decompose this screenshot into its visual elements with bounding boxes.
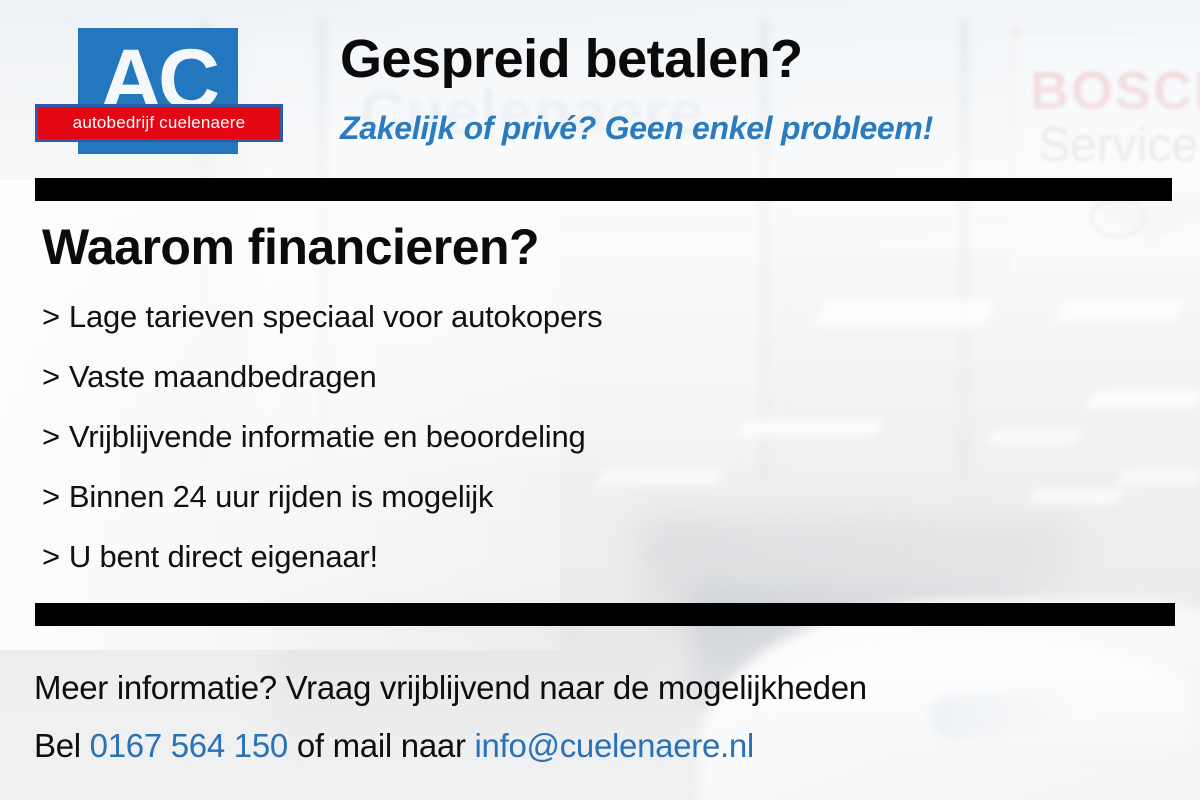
divider-top [35,178,1172,201]
footer-mail-label: of mail naar [288,727,475,764]
list-item: >Lage tarieven speciaal voor autokopers [42,295,942,355]
chevron-right-icon: > [42,479,60,514]
footer-info-line: Meer informatie? Vraag vrijblijvend naar… [34,664,1174,722]
list-item: >Vaste maandbedragen [42,355,942,415]
logo-tagline: autobedrijf cuelenaere [73,113,246,133]
list-item-label: Vrijblijvende informatie en beoordeling [69,419,586,454]
headline: Gespreid betalen? [340,28,803,90]
chevron-right-icon: > [42,299,60,334]
chevron-right-icon: > [42,539,60,574]
subheadline: Zakelijk of privé? Geen enkel probleem! [340,110,933,147]
divider-bottom [35,603,1175,626]
footer-contact-line: Bel 0167 564 150 of mail naar info@cuele… [34,722,1174,780]
list-item: >Binnen 24 uur rijden is mogelijk [42,475,942,535]
poster-content: AC autobedrijf cuelenaere Gespreid betal… [0,0,1200,800]
benefits-list: >Lage tarieven speciaal voor autokopers … [42,295,942,595]
list-item-label: Vaste maandbedragen [69,359,377,394]
list-item-label: U bent direct eigenaar! [69,539,378,574]
company-logo[interactable]: AC autobedrijf cuelenaere [35,28,285,156]
phone-number[interactable]: 0167 564 150 [90,727,288,764]
list-item: >U bent direct eigenaar! [42,535,942,595]
section-title: Waarom financieren? [42,218,539,276]
list-item-label: Lage tarieven speciaal voor autokopers [69,299,603,334]
chevron-right-icon: > [42,419,60,454]
list-item-label: Binnen 24 uur rijden is mogelijk [69,479,493,514]
email-address[interactable]: info@cuelenaere.nl [475,727,754,764]
footer-call-label: Bel [34,727,90,764]
contact-footer: Meer informatie? Vraag vrijblijvend naar… [34,664,1174,780]
logo-red-banner: autobedrijf cuelenaere [35,104,283,142]
promotional-poster: Cuelenaere BOSCH Service AC autobedrijf [0,0,1200,800]
list-item: >Vrijblijvende informatie en beoordeling [42,415,942,475]
chevron-right-icon: > [42,359,60,394]
